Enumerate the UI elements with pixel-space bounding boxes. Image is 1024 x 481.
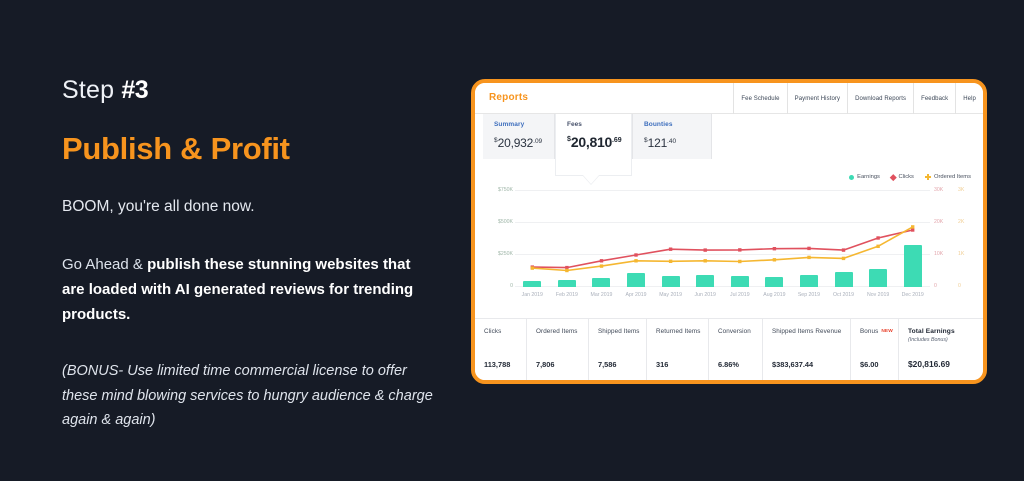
chart-marker [704,259,707,262]
stats-table: Clicks113,788Ordered Items7,806Shipped I… [475,318,983,380]
stat-cell-ordered-items: Ordered Items7,806 [527,319,589,380]
step-heading: Step #3 [62,76,442,105]
y-axis-left-tick: $750K [479,187,513,193]
x-axis-labels: Jan 2019Feb 2019Mar 2019Apr 2019May 2019… [515,292,930,304]
page-title: Publish & Profit [62,131,442,167]
y-axis-clicks-tick: 30K [934,187,954,193]
stat-value: 6.86% [718,360,739,369]
x-axis-label: Feb 2019 [556,292,578,298]
panel-header: Reports Fee Schedule Payment History Dow… [475,83,983,114]
clicks-marker-icon [890,174,896,180]
chart-marker [876,236,879,239]
stat-value: 7,586 [598,360,617,369]
tab-bounties[interactable]: Bounties $121.40 [632,114,712,159]
chart-marker [704,248,707,251]
chart-marker [738,248,741,251]
chart-marker [600,264,603,267]
promo-text-column: Step #3 Publish & Profit BOOM, you're al… [62,76,442,433]
chart-marker [634,259,637,262]
description-lead: Go Ahead & [62,256,147,273]
legend-item-earnings[interactable]: Earnings [849,174,880,180]
nav-item-feedback[interactable]: Feedback [913,83,955,114]
legend-item-ordered-items[interactable]: Ordered Items [925,174,971,180]
y-axis-ordered-tick: 1K [958,251,976,257]
tab-bounties-cents: .40 [667,138,676,145]
x-axis-label: Jul 2019 [730,292,750,298]
bonus-note: (BONUS- Use limited time commercial lice… [62,359,434,434]
chart-lines [515,190,930,287]
y-axis-clicks-tick: 10K [934,251,954,257]
stat-value: 7,806 [536,360,555,369]
stat-header: Total Earnings [908,328,983,335]
tab-summary-value: $20,932.09 [494,134,554,152]
panel-top-nav: Fee Schedule Payment History Download Re… [733,83,983,114]
step-number: #3 [121,76,148,104]
legend-label-clicks: Clicks [898,174,913,180]
earnings-chart: Earnings Clicks Ordered Items $750K $500… [475,174,983,309]
stat-cell-returned-items: Returned Items316 [647,319,709,380]
chart-marker [669,248,672,251]
stat-header: Returned Items [656,328,708,335]
chart-marker [634,253,637,256]
legend-label-ordered-items: Ordered Items [934,174,971,180]
chart-line-clicks [532,230,912,268]
chart-marker [669,260,672,263]
x-axis-label: Dec 2019 [902,292,924,298]
stat-header: Clicks [484,328,526,335]
nav-item-payment-history[interactable]: Payment History [787,83,848,114]
y-axis-left-tick: $250K [479,251,513,257]
x-axis-label: Aug 2019 [763,292,785,298]
stat-header: Shipped Items Revenue [772,328,850,335]
chart-marker [911,225,914,228]
nav-item-download-reports[interactable]: Download Reports [847,83,913,114]
chart-marker [807,247,810,250]
chart-marker [565,269,568,272]
stat-cell-bonus: BonusNEW$6.00 [851,319,899,380]
chart-marker [911,228,914,231]
reports-dashboard-panel: Reports Fee Schedule Payment History Dow… [471,79,987,384]
chart-marker [773,258,776,261]
x-axis-label: Apr 2019 [626,292,647,298]
stat-header: Ordered Items [536,328,588,335]
stat-value: $20,816.69 [908,359,950,369]
chart-marker [842,248,845,251]
stat-header: Conversion [718,328,762,335]
y-axis-left-tick: $500K [479,219,513,225]
chart-marker [738,260,741,263]
legend-item-clicks[interactable]: Clicks [891,174,914,180]
stat-cell-clicks: Clicks113,788 [475,319,527,380]
earnings-marker-icon [849,175,854,180]
x-axis-label: Jan 2019 [522,292,543,298]
stat-value: 113,788 [484,360,510,369]
chart-legend: Earnings Clicks Ordered Items [849,174,971,180]
stat-header: Shipped Items [598,328,646,335]
new-badge: NEW [881,329,893,334]
stat-subheader: (Includes Bonus) [908,337,983,343]
stat-header: BonusNEW [860,328,898,335]
legend-label-earnings: Earnings [857,174,880,180]
x-axis-label: Oct 2019 [833,292,854,298]
tab-fees-label: Fees [567,121,631,128]
nav-item-help[interactable]: Help [955,83,983,114]
y-axis-ordered-tick: 3K [958,187,976,193]
stat-value: $6.00 [860,360,879,369]
stat-cell-total-earnings: Total Earnings(Includes Bonus)$20,816.69 [899,319,983,380]
stat-cell-shipped-items: Shipped Items7,586 [589,319,647,380]
x-axis-label: Sep 2019 [798,292,820,298]
description-paragraph: Go Ahead & publish these stunning websit… [62,252,434,328]
intro-text: BOOM, you're all done now. [62,198,442,216]
stat-value: 316 [656,360,668,369]
y-axis-left-tick: 0 [479,283,513,289]
stat-cell-shipped-items-revenue: Shipped Items Revenue$383,637.44 [763,319,851,380]
tab-summary[interactable]: Summary $20,932.09 [483,114,555,159]
y-axis-ordered-tick: 0 [958,283,976,289]
chart-marker [876,245,879,248]
chart-marker [565,266,568,269]
y-axis-clicks-tick: 0 [934,283,954,289]
tab-summary-cents: .09 [533,138,542,145]
tab-fees-amount: 20,810 [571,134,612,150]
nav-item-fee-schedule[interactable]: Fee Schedule [733,83,786,114]
stat-value: $383,637.44 [772,360,813,369]
panel-title: Reports [489,92,528,103]
chart-marker [600,259,603,262]
step-label: Step [62,76,121,104]
tab-summary-amount: 20,932 [498,136,534,150]
chart-plot-area: $750K $500K $250K 0 30K 20K 10K 0 3K 2K … [515,190,930,287]
x-axis-label: Jun 2019 [695,292,716,298]
y-axis-clicks-tick: 20K [934,219,954,225]
x-axis-label: Nov 2019 [867,292,889,298]
summary-tabs: Summary $20,932.09 Bounties $121.40 Fees… [475,114,983,164]
tab-fees-value: $20,810.69 [567,134,631,152]
stat-cell-conversion: Conversion6.86% [709,319,763,380]
chart-marker [531,266,534,269]
tab-summary-label: Summary [494,121,554,128]
tab-bounties-label: Bounties [644,121,711,128]
chart-marker [773,247,776,250]
tab-bounties-amount: 121 [648,136,667,150]
ordered-items-marker-icon [925,174,931,180]
chart-marker [807,256,810,259]
tab-fees-active[interactable]: Fees $20,810.69 [555,114,632,176]
tab-bounties-value: $121.40 [644,134,711,152]
chart-marker [842,257,845,260]
x-axis-label: May 2019 [659,292,682,298]
tab-fees-cents: .69 [612,137,622,144]
y-axis-ordered-tick: 2K [958,219,976,225]
x-axis-label: Mar 2019 [590,292,612,298]
